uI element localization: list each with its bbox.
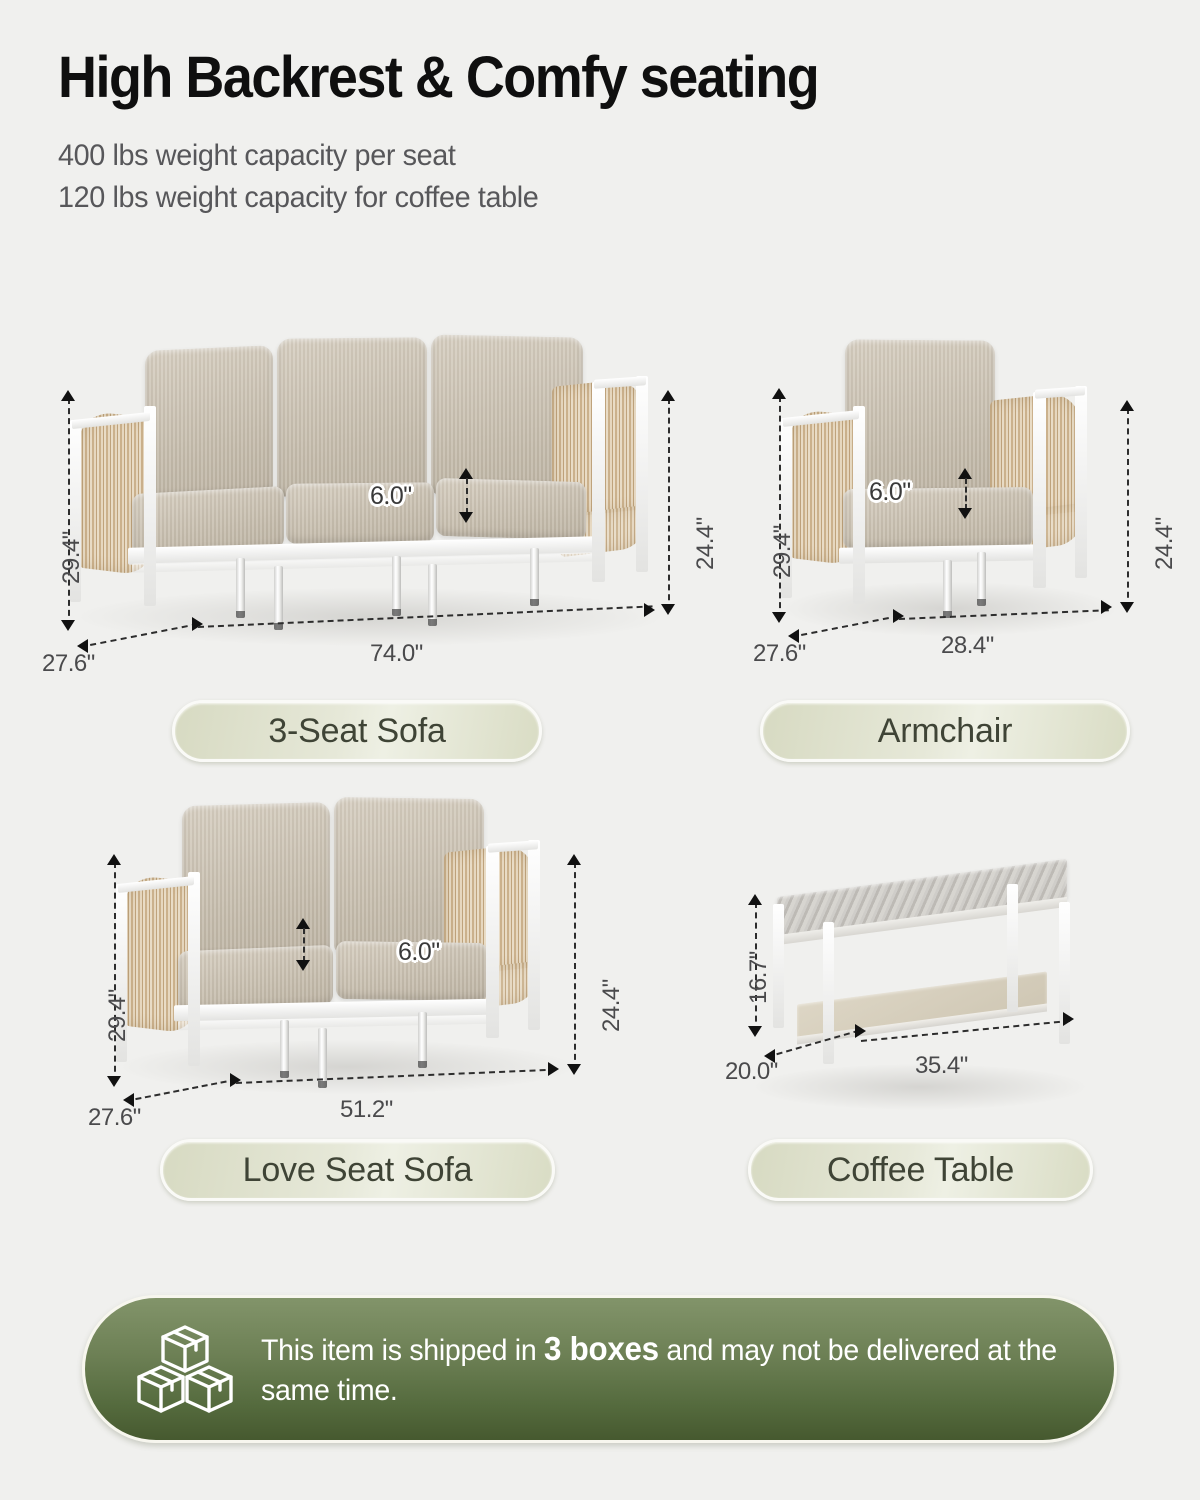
page-title: High Backrest & Comfy seating	[58, 48, 1081, 109]
dim-arm-height-label: 24.4"	[1151, 517, 1179, 570]
arrow-up-icon	[661, 390, 675, 401]
dim-height-label: 29.4"	[58, 531, 86, 584]
pill-text: Love Seat Sofa	[243, 1151, 473, 1190]
header: High Backrest & Comfy seating 400 lbs we…	[58, 48, 1158, 220]
dim-width-label: 35.4"	[915, 1052, 968, 1080]
capacity-table-text: 120 lbs weight capacity for coffee table	[58, 177, 1114, 220]
dim-cushion-label: 6.0"	[398, 938, 440, 967]
product-card-armchair: 29.4" 27.6" 28.4" 24.4" 6.0"	[745, 320, 1175, 740]
arrow-down-icon	[107, 1076, 121, 1087]
arrow-down-icon	[61, 620, 75, 631]
shipping-text-part-1: This item is shipped in	[261, 1334, 544, 1367]
coffee-table-illustration	[715, 860, 1135, 1160]
dim-arm-height-line	[668, 398, 670, 610]
dim-height-line	[114, 862, 116, 1082]
pill-text: Coffee Table	[827, 1151, 1014, 1190]
dim-depth-label: 27.6"	[753, 640, 806, 668]
arrow-up-icon	[772, 388, 786, 399]
dim-cushion-label: 6.0"	[869, 478, 911, 507]
three-seat-sofa-illustration	[40, 320, 700, 740]
arrow-right-icon	[230, 1073, 241, 1087]
dim-arm-height-line	[574, 862, 576, 1070]
arrow-up-icon	[567, 854, 581, 865]
arrow-right-icon	[1101, 600, 1112, 614]
stacked-boxes-icon	[135, 1323, 235, 1415]
dim-arm-height-label: 24.4"	[598, 979, 626, 1032]
dim-depth-label: 27.6"	[42, 650, 95, 678]
arrow-down-icon	[296, 960, 310, 971]
arrow-right-icon	[644, 603, 655, 617]
arrow-down-icon	[772, 612, 786, 623]
arrow-down-icon	[1120, 602, 1134, 613]
arrow-up-icon	[1120, 400, 1134, 411]
product-card-three-seat-sofa: 29.4" 27.6" 74.0" 24.4" 6.0"	[40, 320, 700, 740]
arrow-down-icon	[567, 1064, 581, 1075]
dim-width-label: 28.4"	[941, 632, 994, 660]
pill-text: Armchair	[878, 712, 1012, 751]
label-pill-armchair[interactable]: Armchair	[760, 700, 1130, 762]
arrow-up-icon	[61, 390, 75, 401]
pill-text: 3-Seat Sofa	[268, 712, 445, 751]
dim-cushion-line	[303, 928, 305, 962]
dim-cushion-label: 6.0"	[370, 482, 412, 511]
arrow-right-icon	[855, 1024, 866, 1038]
shipping-banner: This item is shipped in 3 boxes and may …	[82, 1295, 1117, 1443]
dim-height-line	[779, 396, 781, 618]
arrow-up-icon	[748, 894, 762, 905]
dim-depth-label: 20.0"	[725, 1058, 778, 1086]
dim-width-label: 74.0"	[370, 640, 423, 668]
armchair-illustration	[745, 320, 1175, 740]
dim-height-line	[68, 398, 70, 626]
dim-cushion-line	[466, 478, 468, 514]
shipping-box-count: 3 boxes	[544, 1330, 659, 1367]
product-card-coffee-table: 16.7" 20.0" 35.4"	[715, 860, 1135, 1160]
arrow-down-icon	[459, 512, 473, 523]
dim-height-label: 29.4"	[104, 989, 132, 1042]
label-pill-three-seat-sofa[interactable]: 3-Seat Sofa	[172, 700, 542, 762]
capacity-seat-text: 400 lbs weight capacity per seat	[58, 135, 1114, 178]
dim-height-label: 29.4"	[769, 525, 797, 578]
arrow-down-icon	[958, 508, 972, 519]
product-card-love-seat-sofa: 29.4" 27.6" 51.2" 24.4" 6.0"	[80, 790, 640, 1190]
love-seat-sofa-illustration	[80, 790, 640, 1190]
arrow-right-icon	[1063, 1012, 1074, 1026]
dim-arm-height-label: 24.4"	[692, 517, 720, 570]
label-pill-love-seat-sofa[interactable]: Love Seat Sofa	[160, 1139, 555, 1201]
arrow-up-icon	[107, 854, 121, 865]
arrow-down-icon	[661, 604, 675, 615]
arrow-down-icon	[748, 1026, 762, 1037]
label-pill-coffee-table[interactable]: Coffee Table	[748, 1139, 1093, 1201]
arrow-right-icon	[548, 1062, 559, 1076]
dim-cushion-line	[965, 478, 967, 510]
arrow-right-icon	[192, 617, 203, 631]
arrow-right-icon	[893, 609, 904, 623]
shipping-banner-text: This item is shipped in 3 boxes and may …	[261, 1327, 1071, 1411]
dim-arm-height-line	[1127, 408, 1129, 608]
dim-depth-label: 27.6"	[88, 1104, 141, 1132]
subheading-group: 400 lbs weight capacity per seat 120 lbs…	[58, 135, 1158, 220]
dim-height-label: 16.7"	[745, 951, 773, 1004]
dim-width-label: 51.2"	[340, 1096, 393, 1124]
